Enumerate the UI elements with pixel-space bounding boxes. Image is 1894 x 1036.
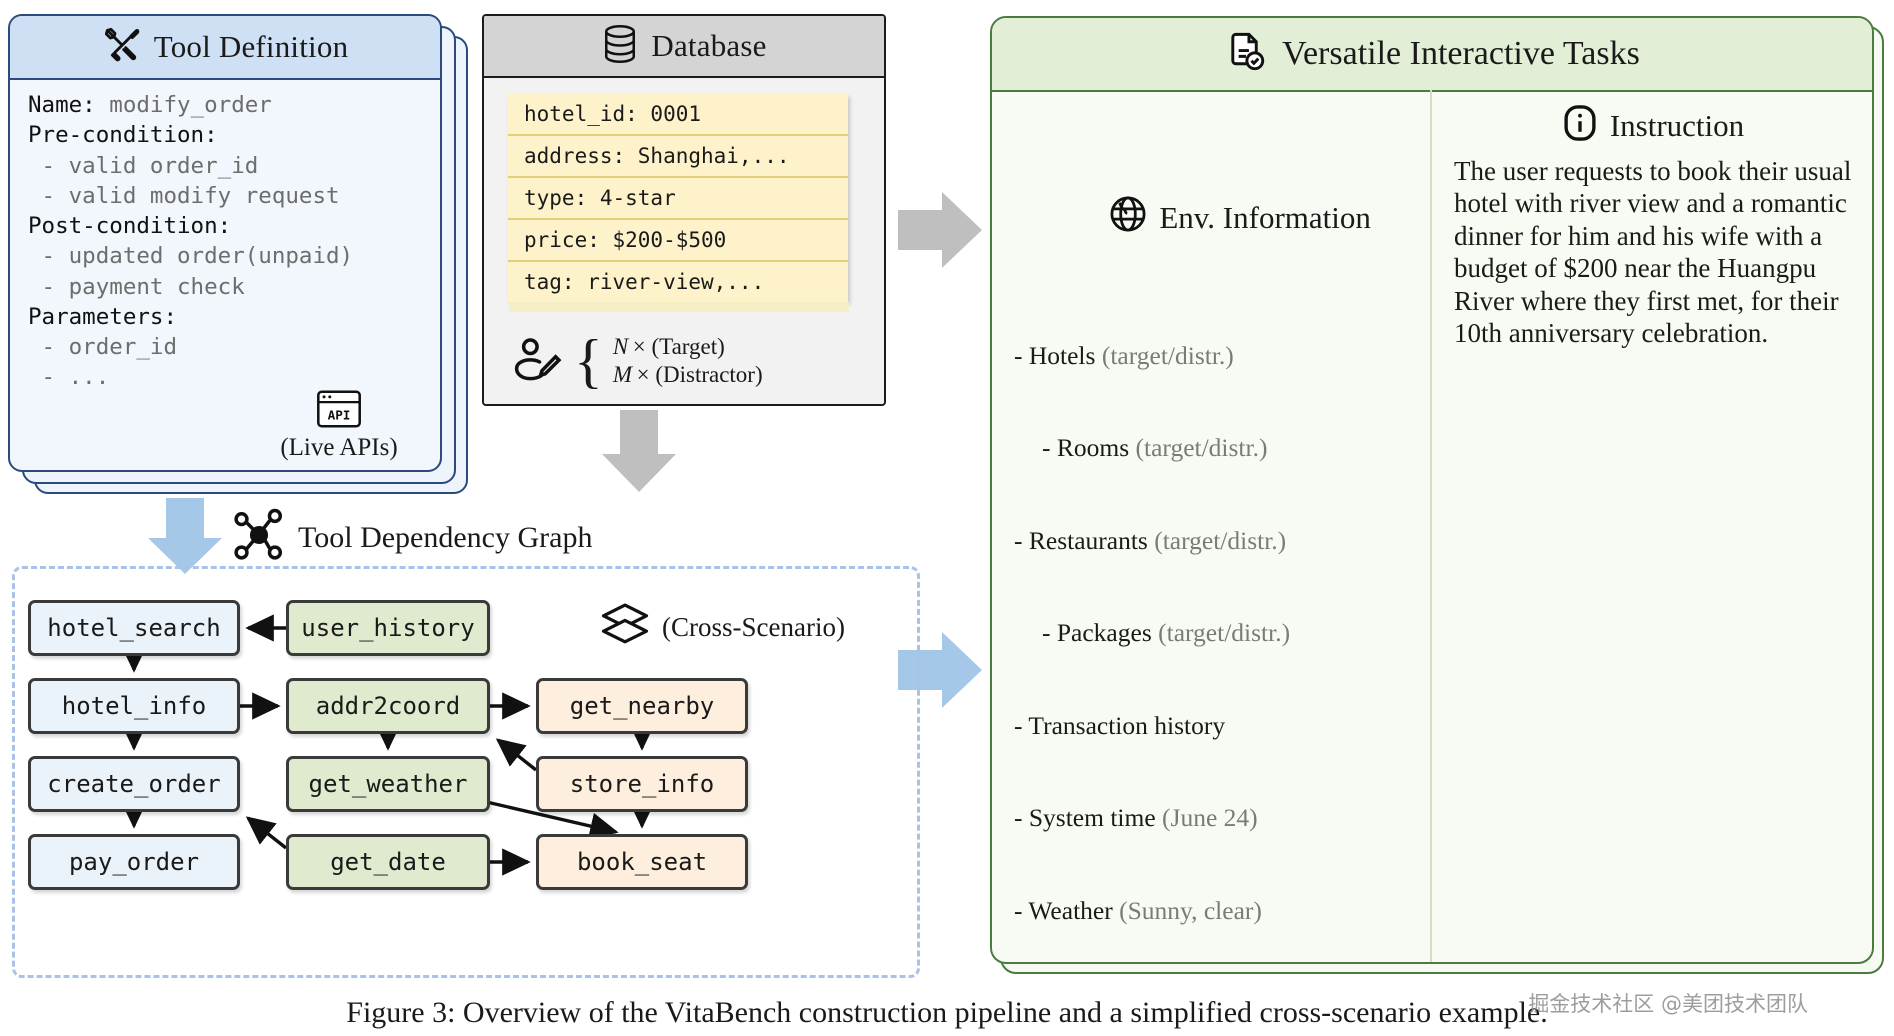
env-item: - System time (June 24) [1014, 802, 1410, 834]
cross-scenario-group: (Cross-Scenario) [600, 602, 845, 653]
tool-line: Name: modify_order [28, 90, 424, 120]
instruction-title: Instruction [1610, 108, 1744, 144]
tasks-title: Versatile Interactive Tasks [1282, 35, 1640, 73]
env-item: - Weather (Sunny, clear) [1014, 895, 1410, 927]
env-information-title: Env. Information [1159, 197, 1371, 239]
target-symbol: N [613, 334, 628, 359]
graph-node-hotel-search[interactable]: hotel_search [28, 600, 240, 656]
tool-definition-body: Name: modify_order Pre-condition: - vali… [10, 80, 440, 393]
db-row: address: Shanghai,... [508, 136, 848, 178]
env-item: - Transaction history [1014, 710, 1410, 742]
graph-node-get-date[interactable]: get_date [286, 834, 490, 890]
globe-icon [1053, 165, 1147, 272]
env-information-panel: Env. Information - Hotels (target/distr.… [992, 90, 1432, 964]
tool-definition-card-stack: Tool Definition Name: modify_order Pre-c… [8, 14, 468, 494]
live-apis-label: (Live APIs) [254, 434, 424, 462]
graph-nodes-icon [232, 508, 286, 567]
tasks-card: Versatile Interactive Tasks Env. Informa… [990, 16, 1874, 964]
tool-line: - order_id [28, 332, 424, 362]
arrow-database-to-graph [600, 410, 680, 496]
tool-line: Parameters: [28, 302, 424, 332]
graph-node-user-history[interactable]: user_history [286, 600, 490, 656]
instruction-header: Instruction [1454, 104, 1852, 147]
env-information-header: Env. Information [1014, 165, 1410, 272]
tool-line: - updated order(unpaid) [28, 241, 424, 271]
db-row: tag: river-view,... [508, 262, 848, 302]
instruction-text: The user requests to book their usual ho… [1454, 155, 1852, 349]
graph-node-book-seat[interactable]: book_seat [536, 834, 748, 890]
tool-dependency-graph-title-group: Tool Dependency Graph [232, 508, 592, 567]
db-row: price: $200-$500 [508, 220, 848, 262]
cross-scenario-label: (Cross-Scenario) [662, 612, 845, 643]
database-multiplicity: { N × (Target) M × (Distractor) [512, 333, 763, 391]
db-row: type: 4-star [508, 178, 848, 220]
tool-line: - payment check [28, 272, 424, 302]
user-edit-icon [512, 336, 564, 387]
tasks-grid: Env. Information - Hotels (target/distr.… [992, 90, 1872, 962]
info-circle-icon [1562, 104, 1598, 147]
env-item: - Restaurants (target/distr.) [1014, 525, 1410, 557]
arrow-database-to-tasks [898, 190, 988, 270]
distractor-symbol: M [613, 362, 632, 387]
database-record-note: hotel_id: 0001 address: Shanghai,... typ… [508, 94, 848, 302]
watermark: 掘金技术社区 @美团技术团队 [1528, 988, 1808, 1018]
multiplicity-brace: { [574, 337, 603, 385]
tool-line: - ... [28, 362, 424, 392]
live-apis-badge-group: API (Live APIs) [254, 389, 424, 462]
db-row: hotel_id: 0001 [508, 94, 848, 136]
tool-definition-title: Tool Definition [154, 29, 349, 65]
env-item: - Packages (target/distr.) [1014, 617, 1410, 649]
graph-node-create-order[interactable]: create_order [28, 756, 240, 812]
tool-definition-header: Tool Definition [10, 16, 440, 80]
tools-icon [102, 25, 142, 70]
tool-line: - valid modify request [28, 181, 424, 211]
instruction-panel: Instruction The user requests to book th… [1432, 90, 1872, 964]
graph-node-get-weather[interactable]: get_weather [286, 756, 490, 812]
tool-definition-card: Tool Definition Name: modify_order Pre-c… [8, 14, 442, 472]
graph-node-get-nearby[interactable]: get_nearby [536, 678, 748, 734]
graph-node-pay-order[interactable]: pay_order [28, 834, 240, 890]
database-title: Database [651, 28, 766, 64]
tool-line: Post-condition: [28, 211, 424, 241]
layers-icon [600, 602, 650, 653]
tool-line: - valid order_id [28, 151, 424, 181]
api-window-icon: API [316, 416, 362, 433]
svg-text:API: API [328, 407, 351, 422]
env-item: - Rooms (target/distr.) [1014, 432, 1410, 464]
database-header: Database [484, 16, 884, 78]
graph-node-hotel-info[interactable]: hotel_info [28, 678, 240, 734]
env-item: - Hotels (target/distr.) [1014, 340, 1410, 372]
graph-node-store-info[interactable]: store_info [536, 756, 748, 812]
tool-dependency-graph-title: Tool Dependency Graph [298, 521, 592, 555]
tasks-header: Versatile Interactive Tasks [992, 18, 1872, 92]
database-card: Database hotel_id: 0001 address: Shangha… [482, 14, 886, 406]
database-icon [601, 24, 639, 69]
multiplicity-lines: N × (Target) M × (Distractor) [613, 333, 763, 391]
tool-line: Pre-condition: [28, 120, 424, 150]
document-check-icon [1224, 30, 1268, 79]
graph-node-addr2coord[interactable]: addr2coord [286, 678, 490, 734]
